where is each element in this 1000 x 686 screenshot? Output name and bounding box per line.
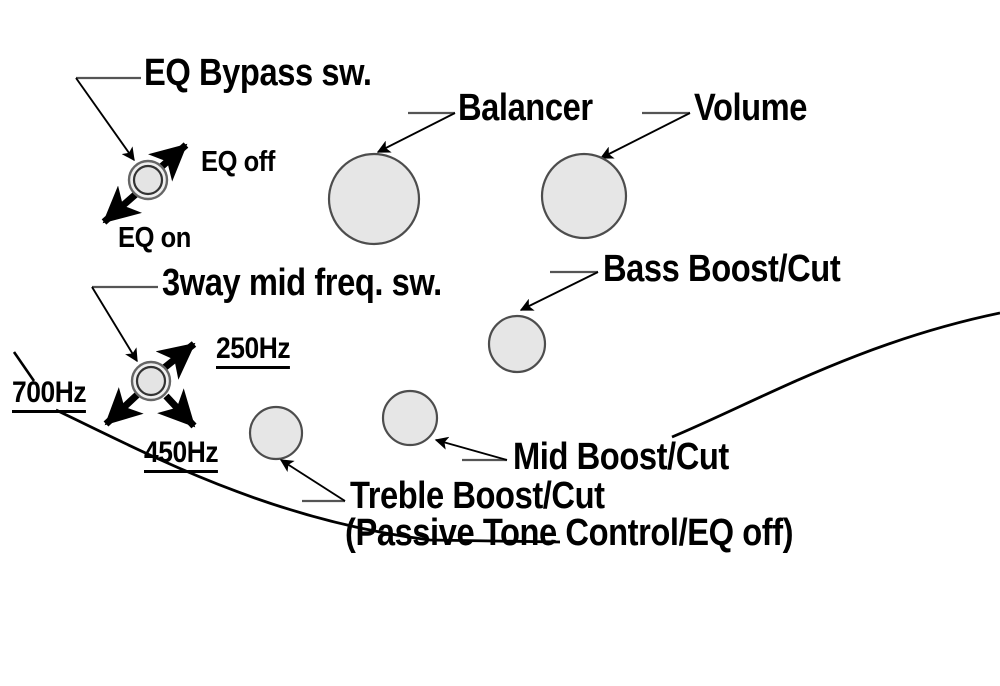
balancer-leader-line [378,113,455,152]
label-eq-on: EQ on [118,223,191,254]
label-freq-450hz: 450Hz [144,437,218,473]
label-freq-700hz: 700Hz [12,377,86,413]
label-volume: Volume [694,88,807,128]
label-treble-passive-note: (Passive Tone Control/EQ off) [345,513,793,553]
mid-knob[interactable] [383,391,437,445]
label-treble-boost-cut: Treble Boost/Cut [350,476,605,516]
label-eq-off: EQ off [201,147,275,178]
volume-leader-line [601,113,690,158]
label-balancer: Balancer [458,88,593,128]
bass-leader-line [521,272,598,310]
label-eq-bypass-sw: EQ Bypass sw. [144,53,372,93]
label-mid-boost-cut: Mid Boost/Cut [513,437,729,477]
eq-bypass-switch[interactable] [129,161,167,199]
volume-knob[interactable] [542,154,626,238]
label-freq-250hz: 250Hz [216,333,290,369]
eq-bypass-leader-line [76,78,141,160]
balancer-knob[interactable] [329,154,419,244]
mid-freq-switch-leader-line [92,287,158,361]
label-bass-boost-cut: Bass Boost/Cut [603,249,840,289]
label-3way-mid-freq-sw: 3way mid freq. sw. [162,263,442,303]
treble-knob[interactable] [250,407,302,459]
mid-leader-line [436,440,507,460]
diagram-canvas: EQ Bypass sw. EQ off EQ on Balancer Volu… [0,0,1000,686]
mid-freq-switch[interactable] [132,362,170,400]
bass-knob[interactable] [489,316,545,372]
treble-leader-line [281,460,345,501]
